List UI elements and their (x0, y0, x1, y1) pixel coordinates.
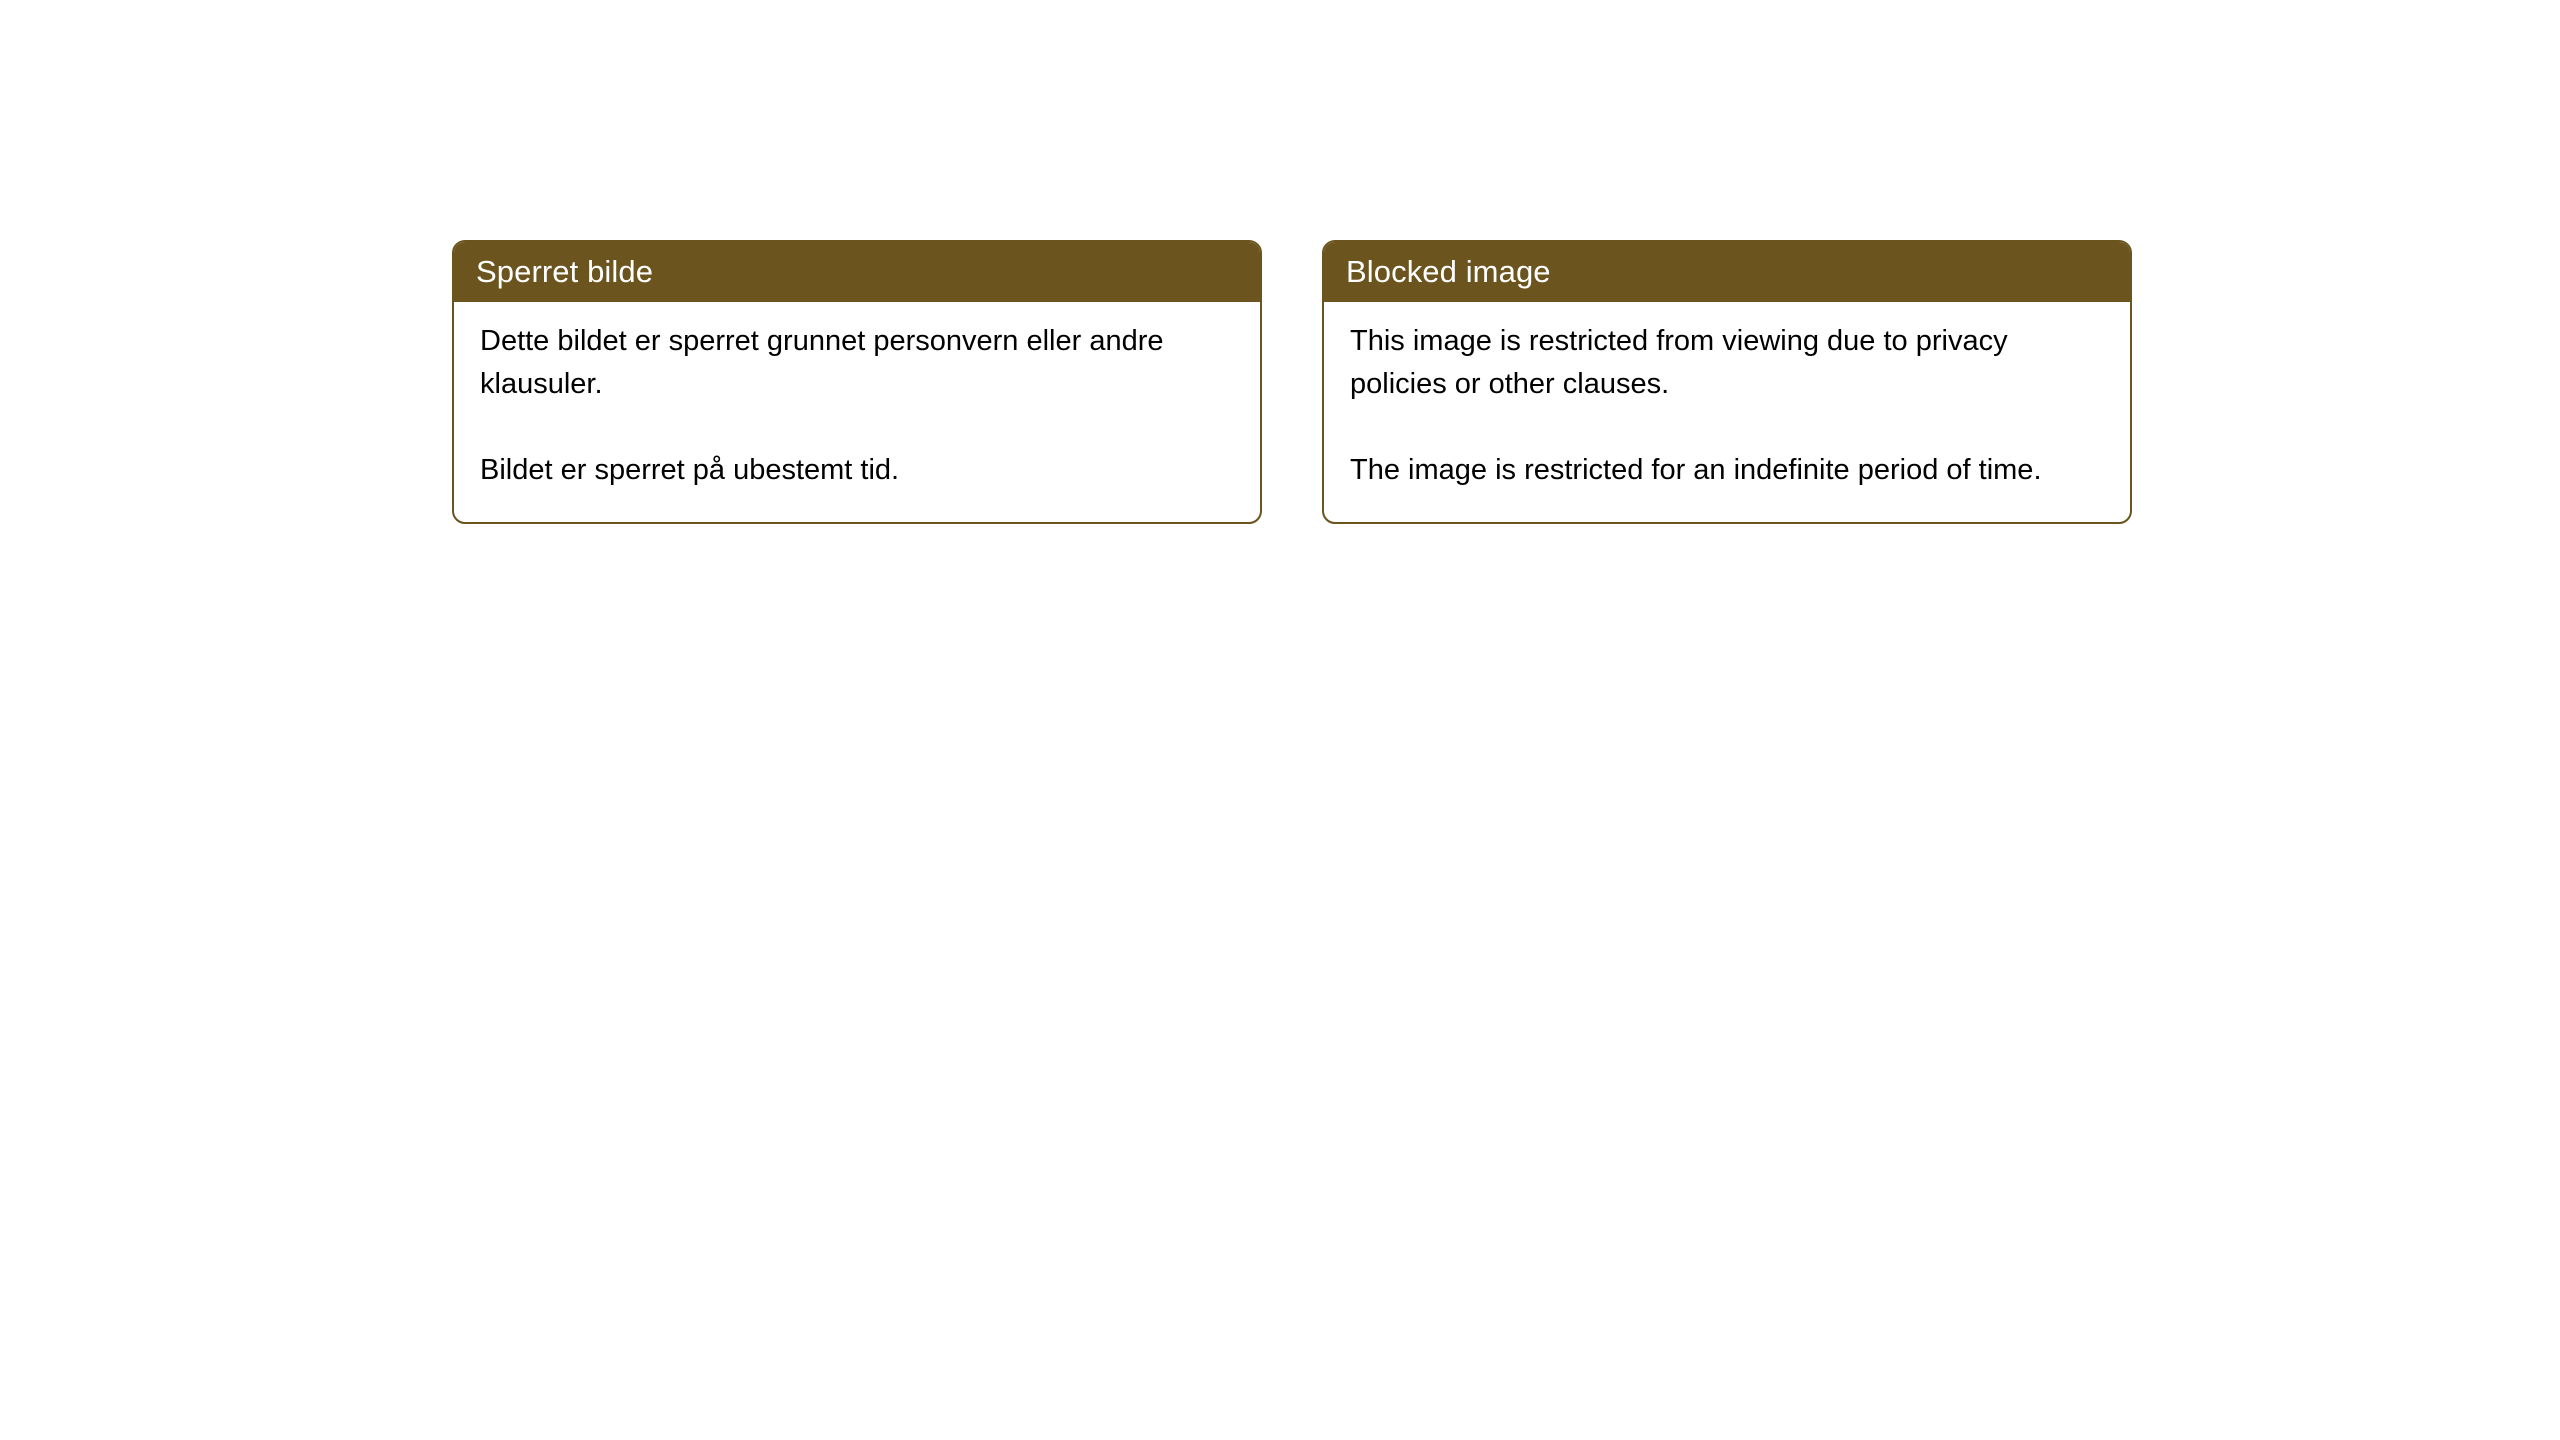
card-title-english: Blocked image (1346, 252, 2132, 291)
card-paragraph-duration-english: The image is restricted for an indefinit… (1350, 449, 2108, 492)
card-paragraph-reason-norwegian: Dette bildet er sperret grunnet personve… (480, 320, 1238, 406)
blocked-image-card-english: Blocked image This image is restricted f… (1322, 240, 2132, 524)
card-body-english: This image is restricted from viewing du… (1324, 302, 2130, 522)
card-header-norwegian: Sperret bilde (452, 240, 1262, 302)
blocked-image-notice-group: Sperret bilde Dette bildet er sperret gr… (452, 240, 2132, 524)
blocked-image-card-norwegian: Sperret bilde Dette bildet er sperret gr… (452, 240, 1262, 524)
card-body-norwegian: Dette bildet er sperret grunnet personve… (454, 302, 1260, 522)
card-title-norwegian: Sperret bilde (476, 252, 1262, 291)
card-paragraph-duration-norwegian: Bildet er sperret på ubestemt tid. (480, 449, 1238, 492)
card-header-english: Blocked image (1322, 240, 2132, 302)
card-paragraph-reason-english: This image is restricted from viewing du… (1350, 320, 2108, 406)
page-canvas: Sperret bilde Dette bildet er sperret gr… (0, 0, 2560, 1440)
